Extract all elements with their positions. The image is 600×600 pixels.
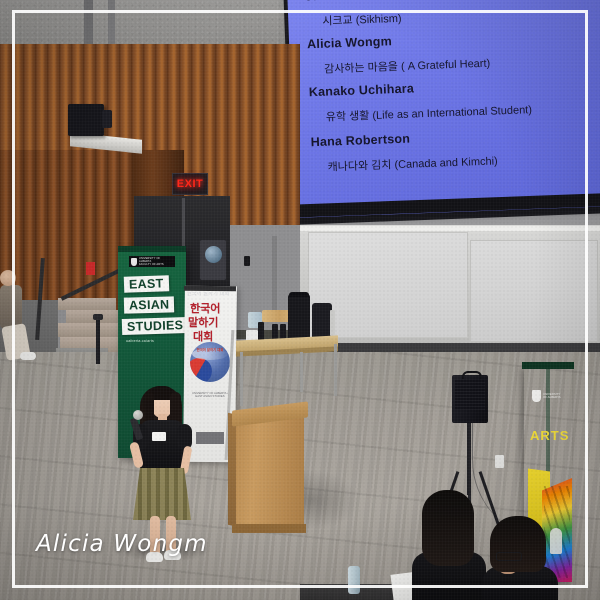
slide-title-4: 캐나다와 김치 (Canada and Kimchi) bbox=[311, 152, 498, 175]
stair-step bbox=[58, 298, 116, 310]
ualberta-logo-line2: FACULTY OF ARTS bbox=[139, 263, 173, 266]
projector-screen: Jasmeet Kaur Oppal 시크교 (Sikhism) Alicia … bbox=[287, 0, 600, 218]
podium-shadow bbox=[300, 470, 360, 530]
banner-word-asian: ASIAN bbox=[124, 296, 175, 313]
podium-base bbox=[232, 524, 306, 533]
tripod-pole bbox=[467, 423, 471, 495]
slide-name-3: Kanako Uchihara bbox=[309, 81, 415, 99]
banner-word-studies: STUDIES bbox=[122, 317, 189, 335]
table-leg bbox=[300, 352, 303, 392]
arts-logo-line2: OF ALBERTA bbox=[543, 396, 561, 399]
banner-url: ualberta.ca/arts bbox=[126, 339, 154, 343]
coffee-urn-right-tube bbox=[330, 310, 335, 336]
whiteboard-right bbox=[470, 240, 598, 342]
microphone-head-icon bbox=[133, 410, 143, 420]
seated-person-left-body bbox=[0, 285, 22, 329]
door-decal-icon bbox=[205, 246, 222, 263]
foreground-water-bottle bbox=[348, 566, 360, 594]
seated-person-left-head bbox=[0, 270, 16, 286]
arts-banner-figure bbox=[550, 528, 562, 554]
whiteboard-trim bbox=[300, 226, 600, 231]
banner-top-rail bbox=[118, 246, 186, 252]
slide-title-3: 유학 생활 (Life as an International Student) bbox=[310, 101, 533, 125]
podium-body bbox=[236, 418, 304, 528]
photo-caption: Alicia Wongm bbox=[36, 531, 208, 557]
shield-icon bbox=[131, 258, 137, 266]
attendee-2-hair bbox=[490, 516, 546, 572]
exit-sign-label: EXIT bbox=[177, 178, 203, 190]
table-leg bbox=[334, 344, 337, 396]
stanchion-post bbox=[96, 318, 100, 364]
presenter-skirt bbox=[133, 468, 191, 520]
coffee-urn-left-lid bbox=[289, 292, 309, 297]
stanchion-top bbox=[93, 314, 103, 320]
table-leg bbox=[240, 352, 243, 406]
pa-speaker-grille bbox=[455, 380, 485, 410]
wall-red-sign bbox=[86, 262, 95, 275]
photo-canvas: Jasmeet Kaur Oppal 시크교 (Sikhism) Alicia … bbox=[0, 0, 600, 600]
korean-banner-footer: UNIVERSITY OF ALBERTA • EAST ASIAN STUDI… bbox=[188, 392, 232, 399]
slide-title-2: 감사하는 마음을 ( A Grateful Heart) bbox=[308, 55, 491, 78]
presenter-name-badge bbox=[152, 432, 166, 441]
exit-sign: EXIT bbox=[172, 173, 208, 195]
slide-name-4: Hana Robertson bbox=[310, 132, 410, 150]
pa-speaker-handle bbox=[462, 371, 482, 379]
shield-icon bbox=[532, 390, 541, 402]
korean-banner-subtitle: 한국어 말하기 대회 bbox=[187, 348, 233, 352]
korean-banner-sponsor-logos bbox=[196, 432, 224, 444]
attendee-1-hair bbox=[422, 490, 474, 566]
banner-word-east: EAST bbox=[124, 275, 169, 293]
seated-person-left-shoe bbox=[20, 352, 36, 360]
ualberta-logo-arts: UNIVERSITY OF ALBERTA bbox=[532, 388, 562, 404]
slide-name-1: Jasmeet Kaur Oppal bbox=[305, 0, 430, 3]
wall-mounted-speaker-icon bbox=[68, 104, 104, 136]
glasses-icon bbox=[496, 552, 522, 561]
wall-outlet-icon bbox=[495, 455, 504, 468]
wall-control-icon bbox=[244, 256, 250, 266]
korean-banner-top-rail bbox=[184, 286, 236, 292]
ualberta-logo: UNIVERSITY OF ALBERTA FACULTY OF ARTS bbox=[129, 256, 175, 267]
slide-title-1: 시크교 (Sikhism) bbox=[306, 10, 402, 29]
arts-banner-top-rail bbox=[522, 362, 574, 369]
arts-banner-word: ARTS bbox=[530, 428, 569, 443]
slide-name-2: Alicia Wongm bbox=[307, 34, 392, 51]
